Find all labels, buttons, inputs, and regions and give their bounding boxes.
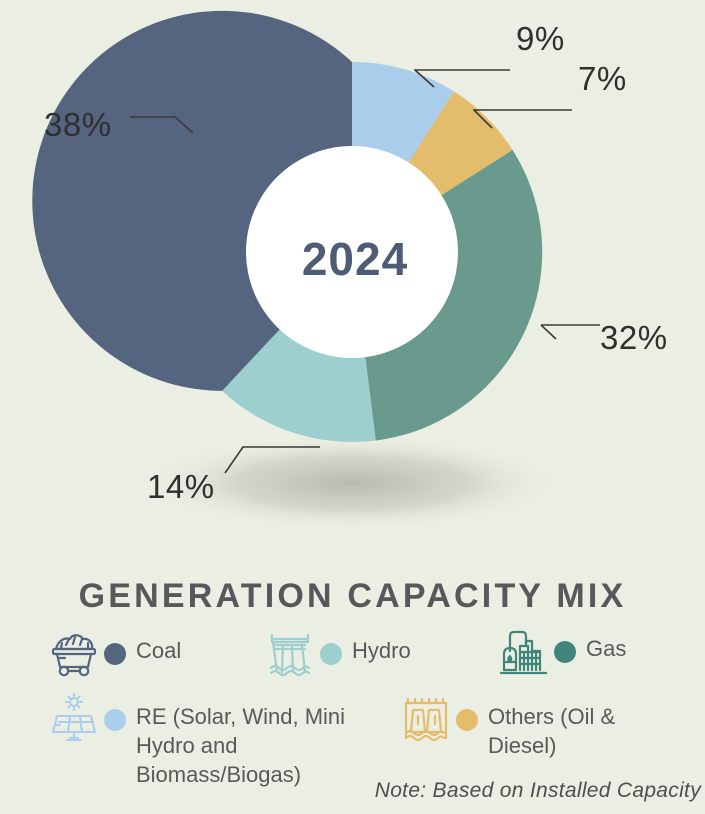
legend-label-re: RE (Solar, Wind, Mini Hydro and Biomass/…: [136, 702, 346, 789]
pct-label-re: 9%: [516, 20, 565, 58]
oil-diesel-plant-icon: [398, 692, 454, 748]
legend-item-others[interactable]: Others (Oil & Diesel): [398, 692, 688, 760]
legend-label-coal: Coal: [136, 636, 181, 665]
legend-dot-others: [456, 709, 478, 731]
legend-dot-hydro: [320, 643, 342, 665]
donut-chart: 9% 7% 32% 14% 38% 2024: [0, 0, 705, 560]
chart-note: Note: Based on Installed Capacity: [375, 779, 701, 803]
leader-line-gas: [541, 325, 556, 339]
gas-refinery-icon: [496, 624, 552, 680]
legend-dot-re: [104, 709, 126, 731]
legend-item-coal[interactable]: Coal: [46, 626, 256, 682]
pct-label-gas: 32%: [600, 319, 668, 357]
chart-title: GENERATION CAPACITY MIX: [0, 577, 705, 616]
legend-label-others: Others (Oil & Diesel): [488, 702, 688, 760]
solar-panel-icon: [46, 692, 102, 748]
donut-center-year: 2024: [230, 232, 480, 286]
legend-item-hydro[interactable]: Hydro: [262, 626, 462, 682]
pct-label-coal: 38%: [44, 106, 112, 144]
pct-label-hydro: 14%: [147, 468, 215, 506]
legend-item-re[interactable]: RE (Solar, Wind, Mini Hydro and Biomass/…: [46, 692, 346, 789]
coal-cart-icon: [46, 626, 102, 682]
pct-label-others: 7%: [578, 60, 627, 98]
legend-dot-coal: [104, 643, 126, 665]
legend-label-gas: Gas: [586, 634, 626, 663]
legend-dot-gas: [554, 641, 576, 663]
legend-label-hydro: Hydro: [352, 636, 411, 665]
hydro-dam-icon: [262, 626, 318, 682]
generation-capacity-mix-infographic: 9% 7% 32% 14% 38% 2024 GENERATION CAPACI…: [0, 0, 705, 812]
legend-item-gas[interactable]: Gas: [496, 624, 696, 680]
